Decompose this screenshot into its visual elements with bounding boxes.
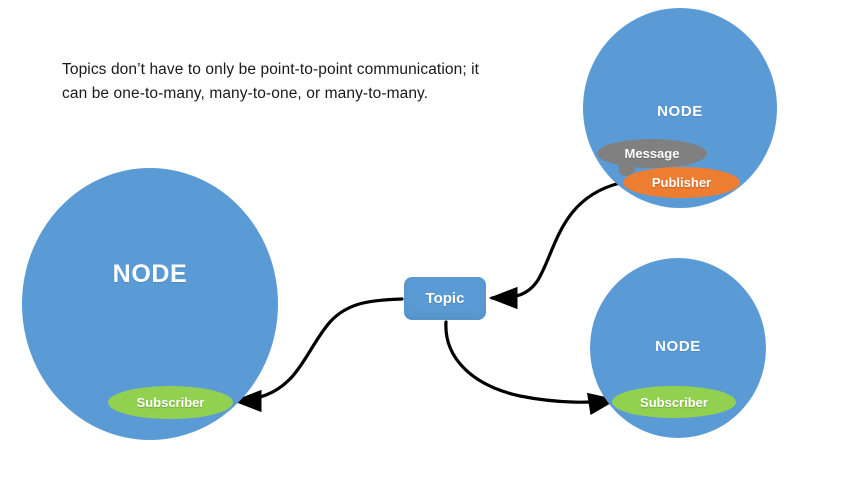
caption-text: Topics don’t have to only be point-to-po… [62,58,482,106]
topic-box[interactable]: Topic [404,277,486,320]
node-top-right-label: NODE [583,103,777,120]
topic-label: Topic [426,290,465,307]
message-bubble[interactable]: Message [597,139,707,168]
node-bottom-right-label: NODE [590,338,766,355]
node-left-label: NODE [22,260,278,289]
diagram-canvas: Topics don’t have to only be point-to-po… [0,0,854,480]
subscriber-bottom-right-label: Subscriber [640,396,708,409]
publisher[interactable]: Publisher [623,167,740,198]
connector-publisher-to-topic [492,183,620,298]
message-label: Message [625,147,680,160]
subscriber-left-label: Subscriber [137,396,205,409]
subscriber-bottom-right[interactable]: Subscriber [612,386,736,418]
publisher-label: Publisher [652,176,711,189]
subscriber-left[interactable]: Subscriber [108,386,233,419]
connector-topic-to-bottom-right-subscriber [446,322,614,402]
